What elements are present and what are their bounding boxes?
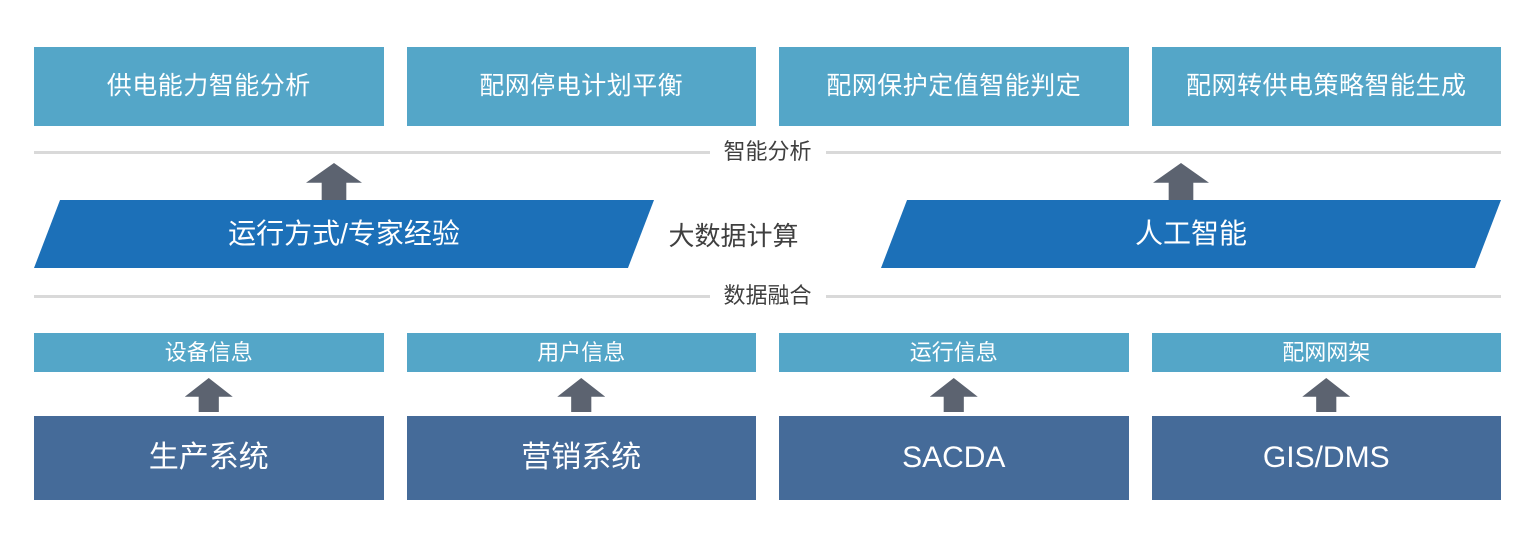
top-analysis-card-label: 配网保护定值智能判定: [826, 74, 1081, 99]
divider-rule-right: [826, 151, 1502, 154]
source-system-box[interactable]: SACDA: [779, 416, 1129, 500]
source-system-box[interactable]: 营销系统: [407, 416, 757, 500]
data-source-column: 设备信息 生产系统: [34, 333, 384, 500]
info-category-bar[interactable]: 配网网架: [1152, 333, 1502, 372]
info-category-label: 运行信息: [910, 342, 998, 364]
divider-data-fusion: 数据融合: [34, 285, 1501, 307]
info-category-bar[interactable]: 用户信息: [407, 333, 757, 372]
info-category-bar[interactable]: 设备信息: [34, 333, 384, 372]
divider-caption: 数据融合: [724, 285, 812, 307]
divider-intelligent-analysis: 智能分析: [34, 141, 1501, 163]
info-category-bar[interactable]: 运行信息: [779, 333, 1129, 372]
up-arrow-icon: [185, 378, 233, 412]
up-arrow-icon: [930, 378, 978, 412]
source-system-box[interactable]: GIS/DMS: [1152, 416, 1502, 500]
data-source-column: 运行信息 SACDA: [779, 333, 1129, 500]
architecture-diagram: 供电能力智能分析 配网停电计划平衡 配网保护定值智能判定 配网转供电策略智能生成…: [0, 0, 1535, 550]
bottom-data-source-row: 设备信息 生产系统 用户信息 营销系统 运行信息 SACDA: [34, 333, 1501, 500]
top-analysis-card-label: 配网停电计划平衡: [479, 74, 683, 99]
divider-caption: 智能分析: [724, 141, 812, 163]
top-analysis-card-row: 供电能力智能分析 配网停电计划平衡 配网保护定值智能判定 配网转供电策略智能生成: [34, 47, 1501, 126]
computing-block[interactable]: 人工智能: [881, 200, 1501, 268]
top-analysis-card-label: 供电能力智能分析: [107, 74, 311, 99]
top-analysis-card[interactable]: 配网停电计划平衡: [407, 47, 757, 126]
source-system-label: GIS/DMS: [1263, 443, 1390, 473]
source-system-label: 生产系统: [149, 443, 269, 473]
middle-block-right: 人工智能: [881, 165, 1501, 277]
top-analysis-card[interactable]: 配网转供电策略智能生成: [1152, 47, 1502, 126]
top-analysis-card[interactable]: 供电能力智能分析: [34, 47, 384, 126]
up-arrow-icon: [1302, 378, 1350, 412]
computing-block-label: 运行方式/专家经验: [228, 220, 460, 248]
computing-block-label: 人工智能: [1135, 220, 1247, 248]
up-arrow-icon: [557, 378, 605, 412]
top-analysis-card-label: 配网转供电策略智能生成: [1186, 74, 1467, 99]
info-category-label: 用户信息: [537, 342, 625, 364]
divider-rule-left: [34, 151, 710, 154]
source-system-label: 营销系统: [521, 443, 641, 473]
info-category-label: 配网网架: [1282, 342, 1370, 364]
data-source-column: 配网网架 GIS/DMS: [1152, 333, 1502, 500]
computing-block[interactable]: 运行方式/专家经验: [34, 200, 654, 268]
source-system-box[interactable]: 生产系统: [34, 416, 384, 500]
middle-layer-caption: 大数据计算: [620, 195, 847, 277]
source-system-label: SACDA: [902, 443, 1005, 473]
info-category-label: 设备信息: [165, 342, 253, 364]
top-analysis-card[interactable]: 配网保护定值智能判定: [779, 47, 1129, 126]
divider-rule-left: [34, 295, 710, 298]
middle-block-left: 运行方式/专家经验: [34, 165, 654, 277]
divider-rule-right: [826, 295, 1502, 298]
data-source-column: 用户信息 营销系统: [407, 333, 757, 500]
